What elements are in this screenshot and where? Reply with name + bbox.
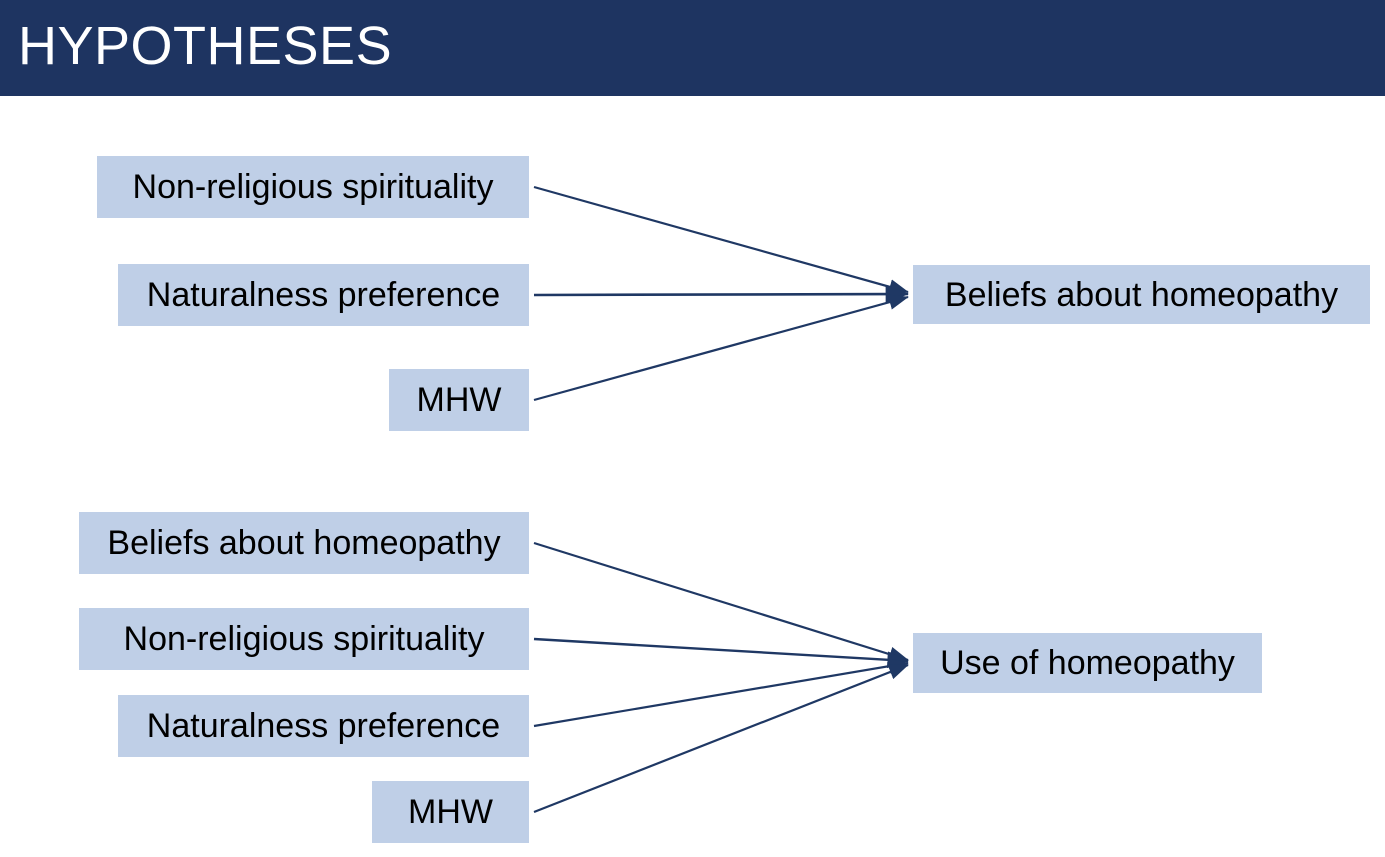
page-title: HYPOTHESES	[18, 8, 392, 84]
node-label: Non-religious spirituality	[133, 170, 494, 204]
connector-g1-naturalness-to-beliefs	[534, 294, 908, 295]
node-label: MHW	[408, 795, 493, 829]
node-g2-source-non-religious-spirituality[interactable]: Non-religious spirituality	[79, 608, 529, 670]
connector-g2-naturalness-to-use	[534, 663, 908, 726]
connector-g2-beliefs-to-use	[534, 543, 908, 660]
node-g1-source-non-religious-spirituality[interactable]: Non-religious spirituality	[97, 156, 529, 218]
node-label: Use of homeopathy	[940, 646, 1235, 680]
node-g2-source-beliefs-about-homeopathy[interactable]: Beliefs about homeopathy	[79, 512, 529, 574]
node-label: Naturalness preference	[147, 278, 500, 312]
node-g2-source-mhw[interactable]: MHW	[372, 781, 529, 843]
connector-g1-mhw-to-beliefs	[534, 297, 908, 400]
node-label: Beliefs about homeopathy	[107, 526, 500, 560]
node-g1-source-mhw[interactable]: MHW	[389, 369, 529, 431]
slide-canvas: HYPOTHESES Non-religious spirituality Na…	[0, 0, 1385, 857]
node-g1-target-beliefs-about-homeopathy[interactable]: Beliefs about homeopathy	[913, 265, 1370, 324]
node-g2-source-naturalness-preference[interactable]: Naturalness preference	[118, 695, 529, 757]
node-g2-target-use-of-homeopathy[interactable]: Use of homeopathy	[913, 633, 1262, 693]
node-label: MHW	[417, 383, 502, 417]
connector-g2-spirituality-to-use	[534, 639, 908, 661]
node-label: Beliefs about homeopathy	[945, 278, 1338, 312]
node-label: Non-religious spirituality	[124, 622, 485, 656]
connector-g2-mhw-to-use	[534, 665, 908, 812]
node-g1-source-naturalness-preference[interactable]: Naturalness preference	[118, 264, 529, 326]
title-banner: HYPOTHESES	[0, 0, 1385, 96]
node-label: Naturalness preference	[147, 709, 500, 743]
connector-g1-spirituality-to-beliefs	[534, 187, 908, 292]
